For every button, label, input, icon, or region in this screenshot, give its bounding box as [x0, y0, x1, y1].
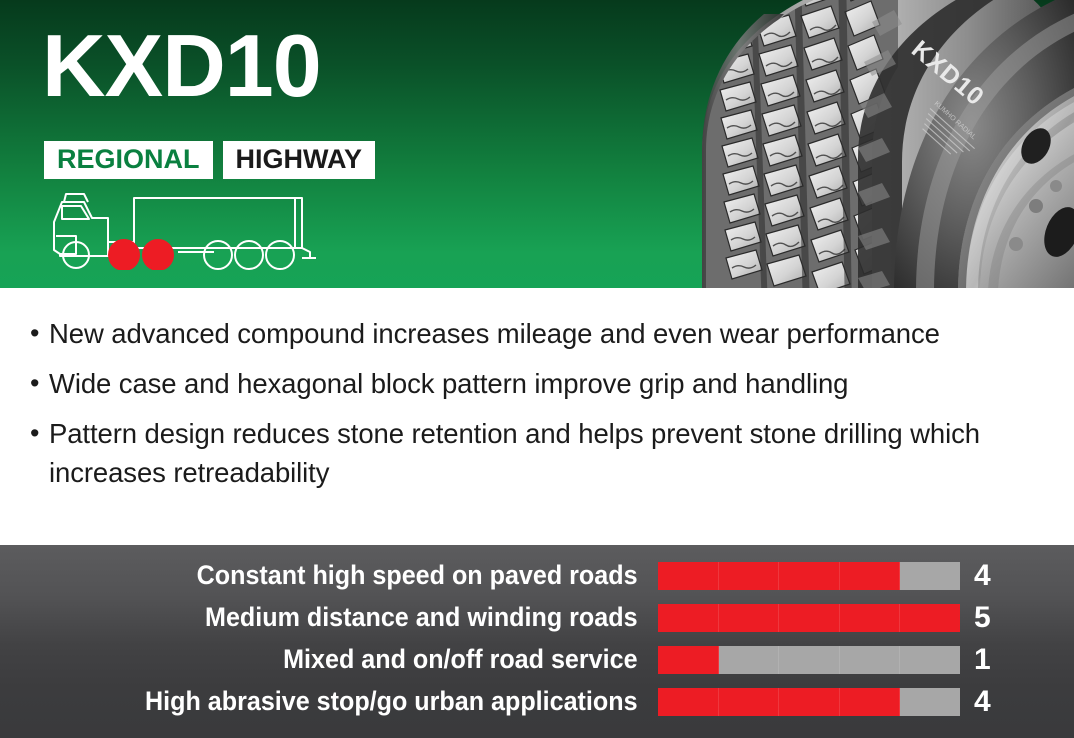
rating-segment: [840, 604, 901, 632]
truck-trailer-icon: [48, 192, 320, 275]
features-section: • New advanced compound increases mileag…: [0, 288, 1074, 545]
rating-value: 4: [960, 561, 994, 591]
badge-regional: REGIONAL: [44, 141, 213, 179]
rating-segment: [779, 562, 840, 590]
header-text-block: KXD10 REGIONAL HIGHWAY: [0, 0, 660, 288]
product-spec-sheet: KXD10 REGIONAL HIGHWAY: [0, 0, 1074, 738]
rating-segment: [900, 688, 960, 716]
page-title: KXD10: [42, 22, 321, 110]
rating-value: 4: [960, 687, 994, 717]
rating-segment: [840, 562, 901, 590]
rating-label: Medium distance and winding roads: [46, 604, 658, 631]
feature-bullet-text: Wide case and hexagonal block pattern im…: [49, 364, 1056, 403]
rating-row: Medium distance and winding roads 5: [0, 597, 1074, 638]
feature-bullet: • Wide case and hexagonal block pattern …: [30, 364, 1056, 403]
rating-segment: [719, 646, 780, 674]
rating-segment: [779, 688, 840, 716]
rating-segment: [900, 604, 960, 632]
bullet-marker-icon: •: [30, 414, 49, 452]
rating-segment: [779, 646, 840, 674]
feature-bullet-text: Pattern design reduces stone retention a…: [49, 414, 1056, 492]
rating-segment: [719, 604, 780, 632]
rating-segment: [840, 688, 901, 716]
rating-bar: [658, 688, 960, 716]
rating-value: 5: [960, 603, 994, 633]
feature-bullet: • Pattern design reduces stone retention…: [30, 414, 1056, 492]
bullet-marker-icon: •: [30, 314, 49, 352]
rating-segment: [719, 688, 780, 716]
rating-bar: [658, 604, 960, 632]
rating-label: Mixed and on/off road service: [46, 646, 658, 673]
category-badges: REGIONAL HIGHWAY: [44, 141, 375, 179]
feature-bullet-text: New advanced compound increases mileage …: [49, 314, 1056, 353]
rating-segment: [779, 604, 840, 632]
rating-bar: [658, 562, 960, 590]
feature-bullet: • New advanced compound increases mileag…: [30, 314, 1056, 353]
rating-segment: [658, 562, 719, 590]
bullet-marker-icon: •: [30, 364, 49, 402]
rating-segment: [900, 562, 960, 590]
rating-label: High abrasive stop/go urban applications: [46, 688, 658, 715]
ratings-section: Constant high speed on paved roads 4 Med…: [0, 545, 1074, 738]
rating-segment: [658, 604, 719, 632]
rating-label: Constant high speed on paved roads: [46, 562, 658, 589]
rating-segment: [900, 646, 960, 674]
rating-value: 1: [960, 645, 994, 675]
rating-segment: [719, 562, 780, 590]
header-banner: KXD10 REGIONAL HIGHWAY: [0, 0, 1074, 288]
rating-bar: [658, 646, 960, 674]
rating-row: Constant high speed on paved roads 4: [0, 555, 1074, 596]
badge-highway: HIGHWAY: [223, 141, 376, 179]
rating-row: Mixed and on/off road service 1: [0, 639, 1074, 680]
rating-segment: [840, 646, 901, 674]
rating-row: High abrasive stop/go urban applications…: [0, 681, 1074, 722]
rating-segment: [658, 646, 719, 674]
rating-segment: [658, 688, 719, 716]
tire-photo: KXD10 KUMHO RADIAL: [658, 0, 1074, 288]
